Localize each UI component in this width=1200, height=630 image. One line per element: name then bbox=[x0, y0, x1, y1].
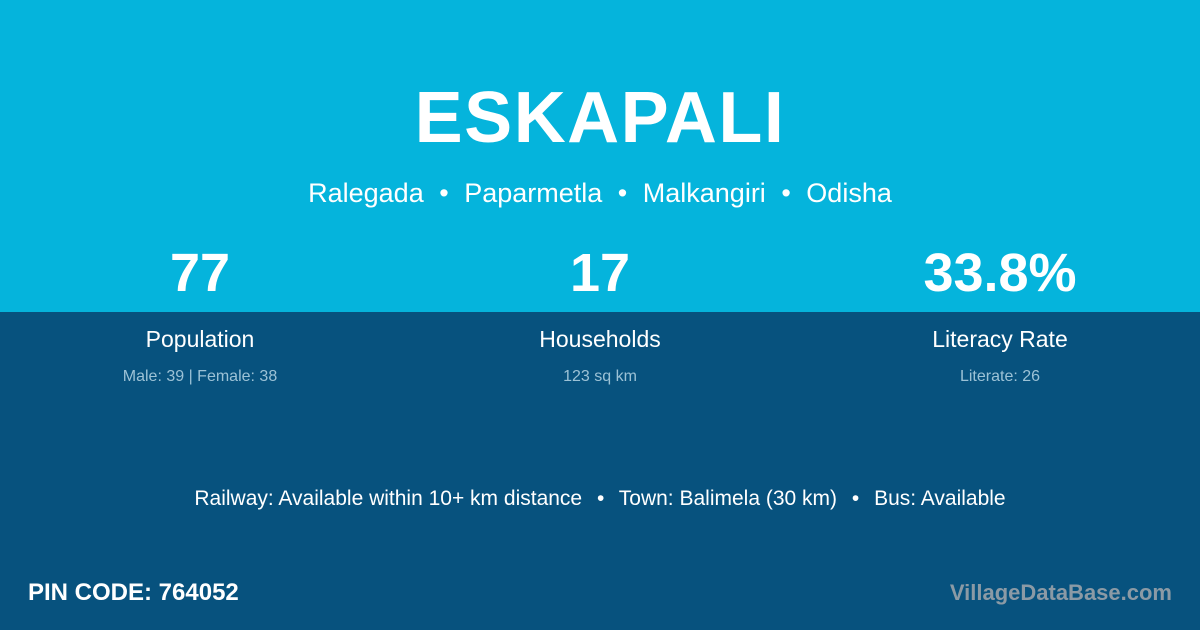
stat-value: 77 bbox=[0, 246, 400, 312]
village-info-card: ESKAPALI Ralegada • Paparmetla • Malkang… bbox=[0, 0, 1200, 630]
stat-population: 77 Population Male: 39 | Female: 38 bbox=[0, 246, 400, 385]
stat-value: 17 bbox=[400, 246, 800, 312]
breadcrumb-block: Paparmetla bbox=[464, 178, 602, 208]
card-footer: PIN CODE: 764052 VillageDataBase.com bbox=[0, 575, 1200, 610]
brand-watermark: VillageDataBase.com bbox=[950, 575, 1172, 610]
stat-label: Households bbox=[400, 312, 800, 351]
breadcrumb-separator-icon: • bbox=[610, 180, 635, 207]
breadcrumb-separator-icon: • bbox=[431, 180, 456, 207]
pin-code-label: PIN CODE: 764052 bbox=[28, 575, 239, 610]
stats-row: 77 Population Male: 39 | Female: 38 17 H… bbox=[0, 246, 1200, 385]
breadcrumb-district: Malkangiri bbox=[643, 178, 766, 208]
infra-town: Town: Balimela (30 km) bbox=[619, 487, 837, 510]
stat-literacy-rate: 33.8% Literacy Rate Literate: 26 bbox=[800, 246, 1200, 385]
stat-subtext: Literate: 26 bbox=[800, 351, 1200, 385]
stat-subtext: Male: 39 | Female: 38 bbox=[0, 351, 400, 385]
stat-households: 17 Households 123 sq km bbox=[400, 246, 800, 385]
infra-separator-icon: • bbox=[843, 488, 868, 509]
stat-subtext: 123 sq km bbox=[400, 351, 800, 385]
breadcrumb-separator-icon: • bbox=[773, 180, 798, 207]
infra-bus: Bus: Available bbox=[874, 487, 1006, 510]
village-name-title: ESKAPALI bbox=[0, 0, 1200, 154]
infra-railway: Railway: Available within 10+ km distanc… bbox=[194, 487, 582, 510]
location-breadcrumb: Ralegada • Paparmetla • Malkangiri • Odi… bbox=[0, 154, 1200, 207]
stat-value: 33.8% bbox=[800, 246, 1200, 312]
stat-label: Population bbox=[0, 312, 400, 351]
card-header: ESKAPALI Ralegada • Paparmetla • Malkang… bbox=[0, 0, 1200, 207]
infrastructure-line: Railway: Available within 10+ km distanc… bbox=[0, 488, 1200, 509]
breadcrumb-state: Odisha bbox=[806, 178, 892, 208]
breadcrumb-panchayat: Ralegada bbox=[308, 178, 424, 208]
infra-separator-icon: • bbox=[588, 488, 613, 509]
stat-label: Literacy Rate bbox=[800, 312, 1200, 351]
